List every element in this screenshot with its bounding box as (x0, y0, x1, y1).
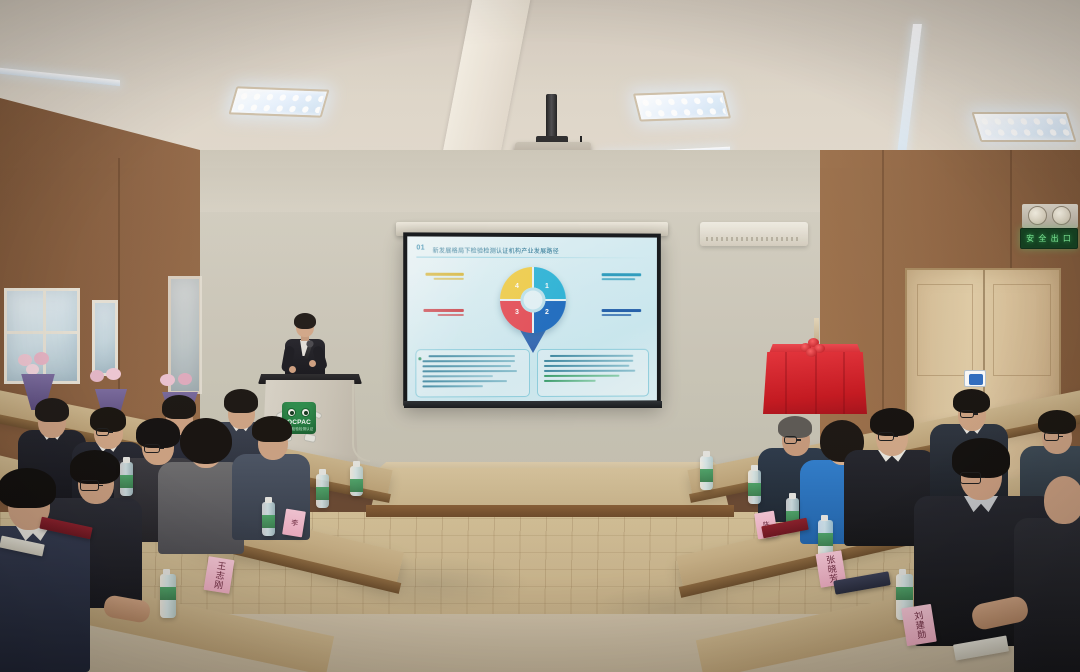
name-card: 李 (282, 509, 306, 538)
eyeglasses-icon (960, 410, 974, 418)
ceiling-light-panel (633, 90, 731, 121)
emergency-light (1022, 204, 1078, 228)
slide-title: 新发展格局下检验检测认证机构产业发展路径 (433, 246, 559, 256)
water-bottle[interactable] (120, 462, 133, 496)
ceiling-projector (516, 96, 588, 156)
water-bottle[interactable] (160, 574, 176, 618)
presenter-hair (294, 313, 316, 329)
eyeglasses-icon (960, 472, 981, 484)
mascot-eye-icon (301, 408, 310, 417)
draped-plaque (763, 352, 867, 414)
slide-card (415, 349, 529, 398)
air-conditioner-unit (700, 222, 808, 246)
quadrant-number-2: 2 (545, 309, 549, 316)
slide-section-number: 01 (416, 244, 425, 251)
slide-card (536, 349, 649, 397)
back-wall-upper-band (178, 150, 826, 212)
slide-label-quadrant-2 (602, 309, 644, 318)
eyeglasses-icon (878, 432, 894, 441)
door-notice-sign (964, 370, 986, 387)
water-bottle[interactable] (350, 466, 363, 496)
name-card: 刘建勋 (901, 604, 937, 646)
slide-header: 01 新发展格局下检验检测认证机构产业发展路径 (416, 244, 647, 257)
slide-label-quadrant-1 (602, 273, 644, 282)
slide-label-quadrant-3 (421, 309, 463, 318)
projector-mount-rod (546, 94, 557, 140)
ceiling-light-panel (971, 112, 1076, 142)
presentation-slide: 01 新发展格局下检验检测认证机构产业发展路径 (407, 236, 657, 401)
presenter (283, 316, 327, 378)
ceiling-light-strip (897, 24, 922, 154)
slide-text-cards (415, 349, 649, 398)
mascot-eye-icon (287, 408, 296, 417)
name-card-label: 王志刚 (212, 560, 226, 590)
water-bottle[interactable] (316, 474, 329, 508)
quadrant-number-1: 1 (545, 283, 549, 290)
quadrant-donut: 1 2 3 4 (500, 267, 566, 333)
eyeglasses-icon (80, 480, 99, 491)
eyeglasses-icon (784, 436, 797, 444)
water-bottle[interactable] (700, 456, 713, 490)
water-bottle[interactable] (262, 502, 275, 536)
slide-title-underline (416, 257, 647, 259)
ribbon-flower-icon (800, 338, 826, 358)
presenter-hand (309, 360, 316, 367)
ceiling-light-panel (228, 86, 329, 117)
name-card: 王志刚 (204, 556, 235, 594)
lectern-cable (352, 384, 370, 462)
exit-sign: 安 全 出 口 (1020, 228, 1078, 249)
name-card-label: 李 (290, 519, 298, 528)
water-bottle[interactable] (748, 470, 761, 504)
quadrant-number-3: 3 (515, 309, 519, 316)
quadrant-number-4: 4 (515, 283, 519, 290)
window-left-upper (92, 300, 118, 376)
screen-bottom-bar (404, 401, 662, 408)
quadrant-pin-diagram: 1 2 3 4 (500, 267, 566, 349)
stage-front-face (366, 505, 734, 517)
name-card-label: 刘建勋 (912, 610, 926, 640)
exit-sign-label: 安 全 出 口 (1026, 233, 1072, 244)
eyeglasses-icon (96, 428, 109, 436)
eyeglasses-icon (144, 444, 160, 453)
presenter-hand (289, 366, 296, 373)
door-panel (993, 284, 1051, 376)
ceiling-light-strip (0, 68, 120, 87)
slide-label-quadrant-4 (421, 273, 463, 282)
eyeglasses-icon (1044, 432, 1059, 441)
conference-room-photo: 安 全 出 口 01 新发展格局下检验检测认证机构产业发展路径 (0, 0, 1080, 672)
door-panel (917, 284, 973, 376)
projection-screen: 01 新发展格局下检验检测认证机构产业发展路径 (403, 232, 661, 405)
